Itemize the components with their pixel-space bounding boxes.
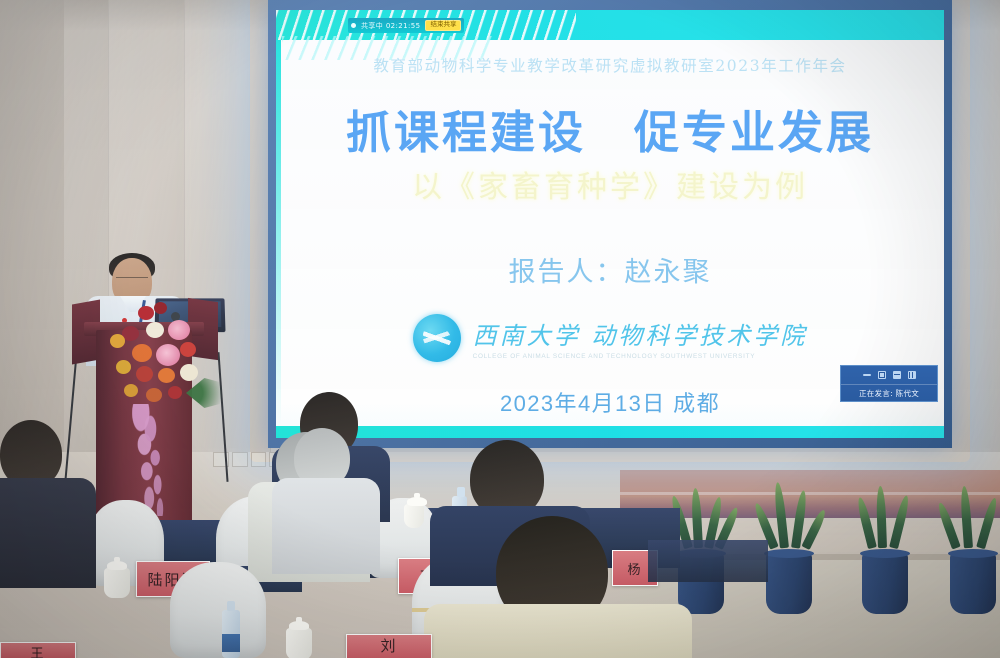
flower xyxy=(138,306,154,320)
bottle-label xyxy=(222,634,240,652)
projection-screen-frame: 教育部动物科学专业教学改革研究虚拟教研室2023年工作年会 抓课程建设 促专业发… xyxy=(268,0,952,448)
flower xyxy=(180,364,198,381)
glasses-icon xyxy=(116,277,148,285)
torso xyxy=(424,604,692,658)
slide-main-title: 抓课程建设 促专业发展 xyxy=(276,96,944,161)
stop-share-button[interactable]: 结束共享 xyxy=(425,20,461,31)
recording-dot-icon xyxy=(351,23,356,28)
tea-cup xyxy=(104,568,130,598)
flower xyxy=(158,368,175,383)
flower xyxy=(124,384,138,397)
plant-pot xyxy=(766,552,812,614)
hanging-orchid-vine xyxy=(130,404,190,516)
torso xyxy=(272,478,380,574)
wall-panel xyxy=(0,0,109,453)
flower xyxy=(132,344,152,362)
stage-rail xyxy=(620,492,1000,495)
audience-table xyxy=(648,540,768,582)
slide-speaker-line: 报告人：赵永聚 xyxy=(276,250,944,289)
palm-frond xyxy=(186,378,232,408)
tea-cup xyxy=(286,628,312,658)
logo-text-block: 西南大学 动物科学技术学院 COLLEGE OF ANIMAL SCIENCE … xyxy=(473,316,808,360)
split-view-icon[interactable] xyxy=(893,371,901,379)
wall-socket xyxy=(232,452,248,467)
flower xyxy=(136,366,153,382)
plant-pot xyxy=(950,552,996,614)
water-bottle xyxy=(222,610,240,658)
grid-view-icon[interactable] xyxy=(908,371,916,379)
meeting-control-panel[interactable]: 正在发言: 陈代文 xyxy=(840,365,938,402)
window-icon[interactable] xyxy=(878,371,886,379)
minimize-icon[interactable] xyxy=(863,374,871,376)
university-logo: 西南大学 动物科学技术学院 COLLEGE OF ANIMAL SCIENCE … xyxy=(276,314,944,362)
plant-pot xyxy=(862,552,908,614)
flower xyxy=(168,386,182,399)
tea-cup xyxy=(404,504,424,528)
flower xyxy=(168,320,190,340)
current-speaker-label: 正在发言: 陈代文 xyxy=(841,384,937,399)
logo-chinese-name: 西南大学 动物科学技术学院 xyxy=(473,316,808,351)
flower xyxy=(146,322,164,338)
flower xyxy=(146,388,162,402)
flower-arrangement xyxy=(102,300,228,430)
slide-bottom-band xyxy=(276,426,944,438)
share-status-text: 共享中 02:21:55 xyxy=(361,21,420,31)
meeting-window-controls[interactable] xyxy=(841,371,937,379)
flower xyxy=(180,342,196,357)
projection-screen: 教育部动物科学专业教学改革研究虚拟教研室2023年工作年会 抓课程建设 促专业发… xyxy=(276,10,944,438)
torso xyxy=(0,478,96,588)
flower xyxy=(154,302,167,314)
wall-panel xyxy=(952,0,1000,453)
flower xyxy=(156,344,180,366)
slide-header-text: 教育部动物科学专业教学改革研究虚拟教研室2023年工作年会 xyxy=(276,54,944,76)
name-placard: 刘 xyxy=(346,634,432,658)
flower xyxy=(116,360,131,374)
university-emblem-icon xyxy=(413,314,461,362)
audience-chair xyxy=(170,562,266,658)
name-placard: 王 xyxy=(0,642,76,658)
wall-socket xyxy=(251,452,267,467)
logo-english-name: COLLEGE OF ANIMAL SCIENCE AND TECHNOLOGY… xyxy=(473,353,808,360)
flower xyxy=(110,334,125,348)
screen-share-status-bar[interactable]: 共享中 02:21:55 结束共享 xyxy=(348,18,464,33)
slide-subtitle: 以《家畜育种学》建设为例 xyxy=(276,162,944,206)
presentation-slide: 教育部动物科学专业教学改革研究虚拟教研室2023年工作年会 抓课程建设 促专业发… xyxy=(276,10,944,438)
conference-hall-photo: 教育部动物科学专业教学改革研究虚拟教研室2023年工作年会 抓课程建设 促专业发… xyxy=(0,0,1000,658)
